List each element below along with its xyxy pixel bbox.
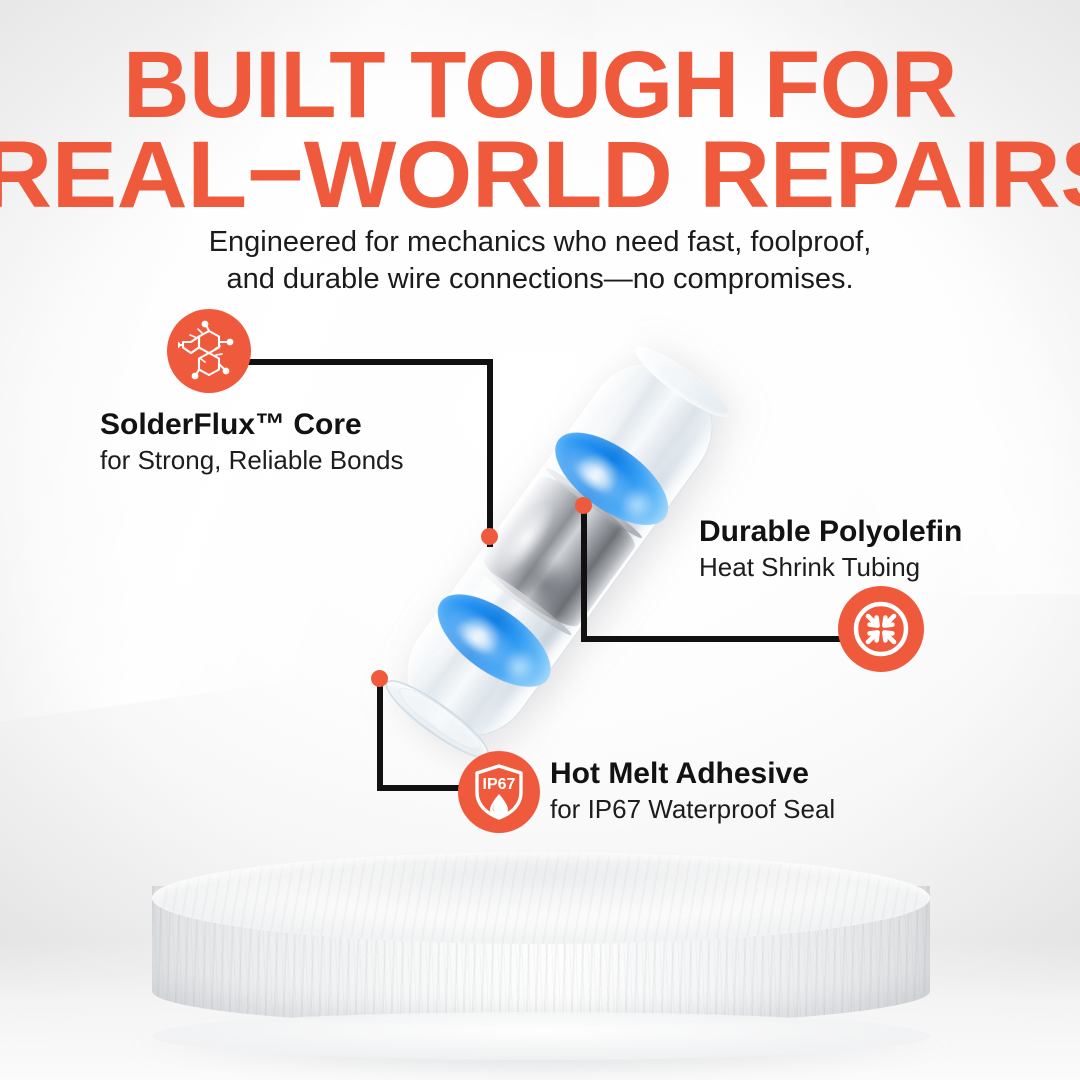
shrink-arrows-icon[interactable]: [838, 586, 924, 672]
podium-bottom-edge: [152, 1012, 930, 1060]
subtitle-line-2: and durable wire connections—no compromi…: [0, 261, 1080, 298]
anchor-dot-adhesive: [371, 670, 388, 687]
ip67-shield-icon-glyph: IP67: [470, 762, 528, 822]
ring-highlight: [453, 608, 509, 661]
molecule-icon[interactable]: [167, 309, 251, 393]
headline-line-1: BUILT TOUGH FOR: [16, 44, 1064, 128]
headline-line-2: REAL−WORLD REPAIRS: [0, 134, 1080, 218]
subtitle: Engineered for mechanics who need fast, …: [0, 224, 1080, 298]
ip67-shield-label: IP67: [483, 776, 516, 793]
marble-cylinder-podium: [152, 852, 930, 1052]
molecule-icon-glyph: [178, 320, 240, 382]
anchor-dot-polyolefin: [575, 497, 592, 514]
callout-subtitle-solderflux: for Strong, Reliable Bonds: [100, 445, 404, 476]
callout-solderflux-text: SolderFlux™ Core for Strong, Reliable Bo…: [100, 408, 404, 476]
subtitle-line-1: Engineered for mechanics who need fast, …: [0, 224, 1080, 261]
callout-subtitle-adhesive: for IP67 Waterproof Seal: [550, 794, 835, 825]
callout-title-polyolefin: Durable Polyolefin: [699, 515, 962, 550]
podium-top-surface: [152, 852, 930, 944]
callout-adhesive-text: Hot Melt Adhesive for IP67 Waterproof Se…: [550, 757, 835, 825]
podium-top-shading: [199, 858, 884, 922]
callout-subtitle-polyolefin: Heat Shrink Tubing: [699, 552, 962, 583]
callout-title-solderflux: SolderFlux™ Core: [100, 408, 404, 443]
callout-polyolefin-text: Durable Polyolefin Heat Shrink Tubing: [699, 515, 962, 583]
page-title: BUILT TOUGH FOR REAL−WORLD REPAIRS: [0, 44, 1080, 217]
shrink-arrows-icon-glyph: [849, 597, 913, 661]
callout-title-adhesive: Hot Melt Adhesive: [550, 757, 835, 792]
ip67-shield-icon[interactable]: IP67: [458, 751, 540, 833]
ring-highlight: [570, 446, 626, 499]
infographic-canvas: BUILT TOUGH FOR REAL−WORLD REPAIRS Engin…: [0, 0, 1080, 1080]
anchor-dot-solderflux: [481, 528, 498, 545]
